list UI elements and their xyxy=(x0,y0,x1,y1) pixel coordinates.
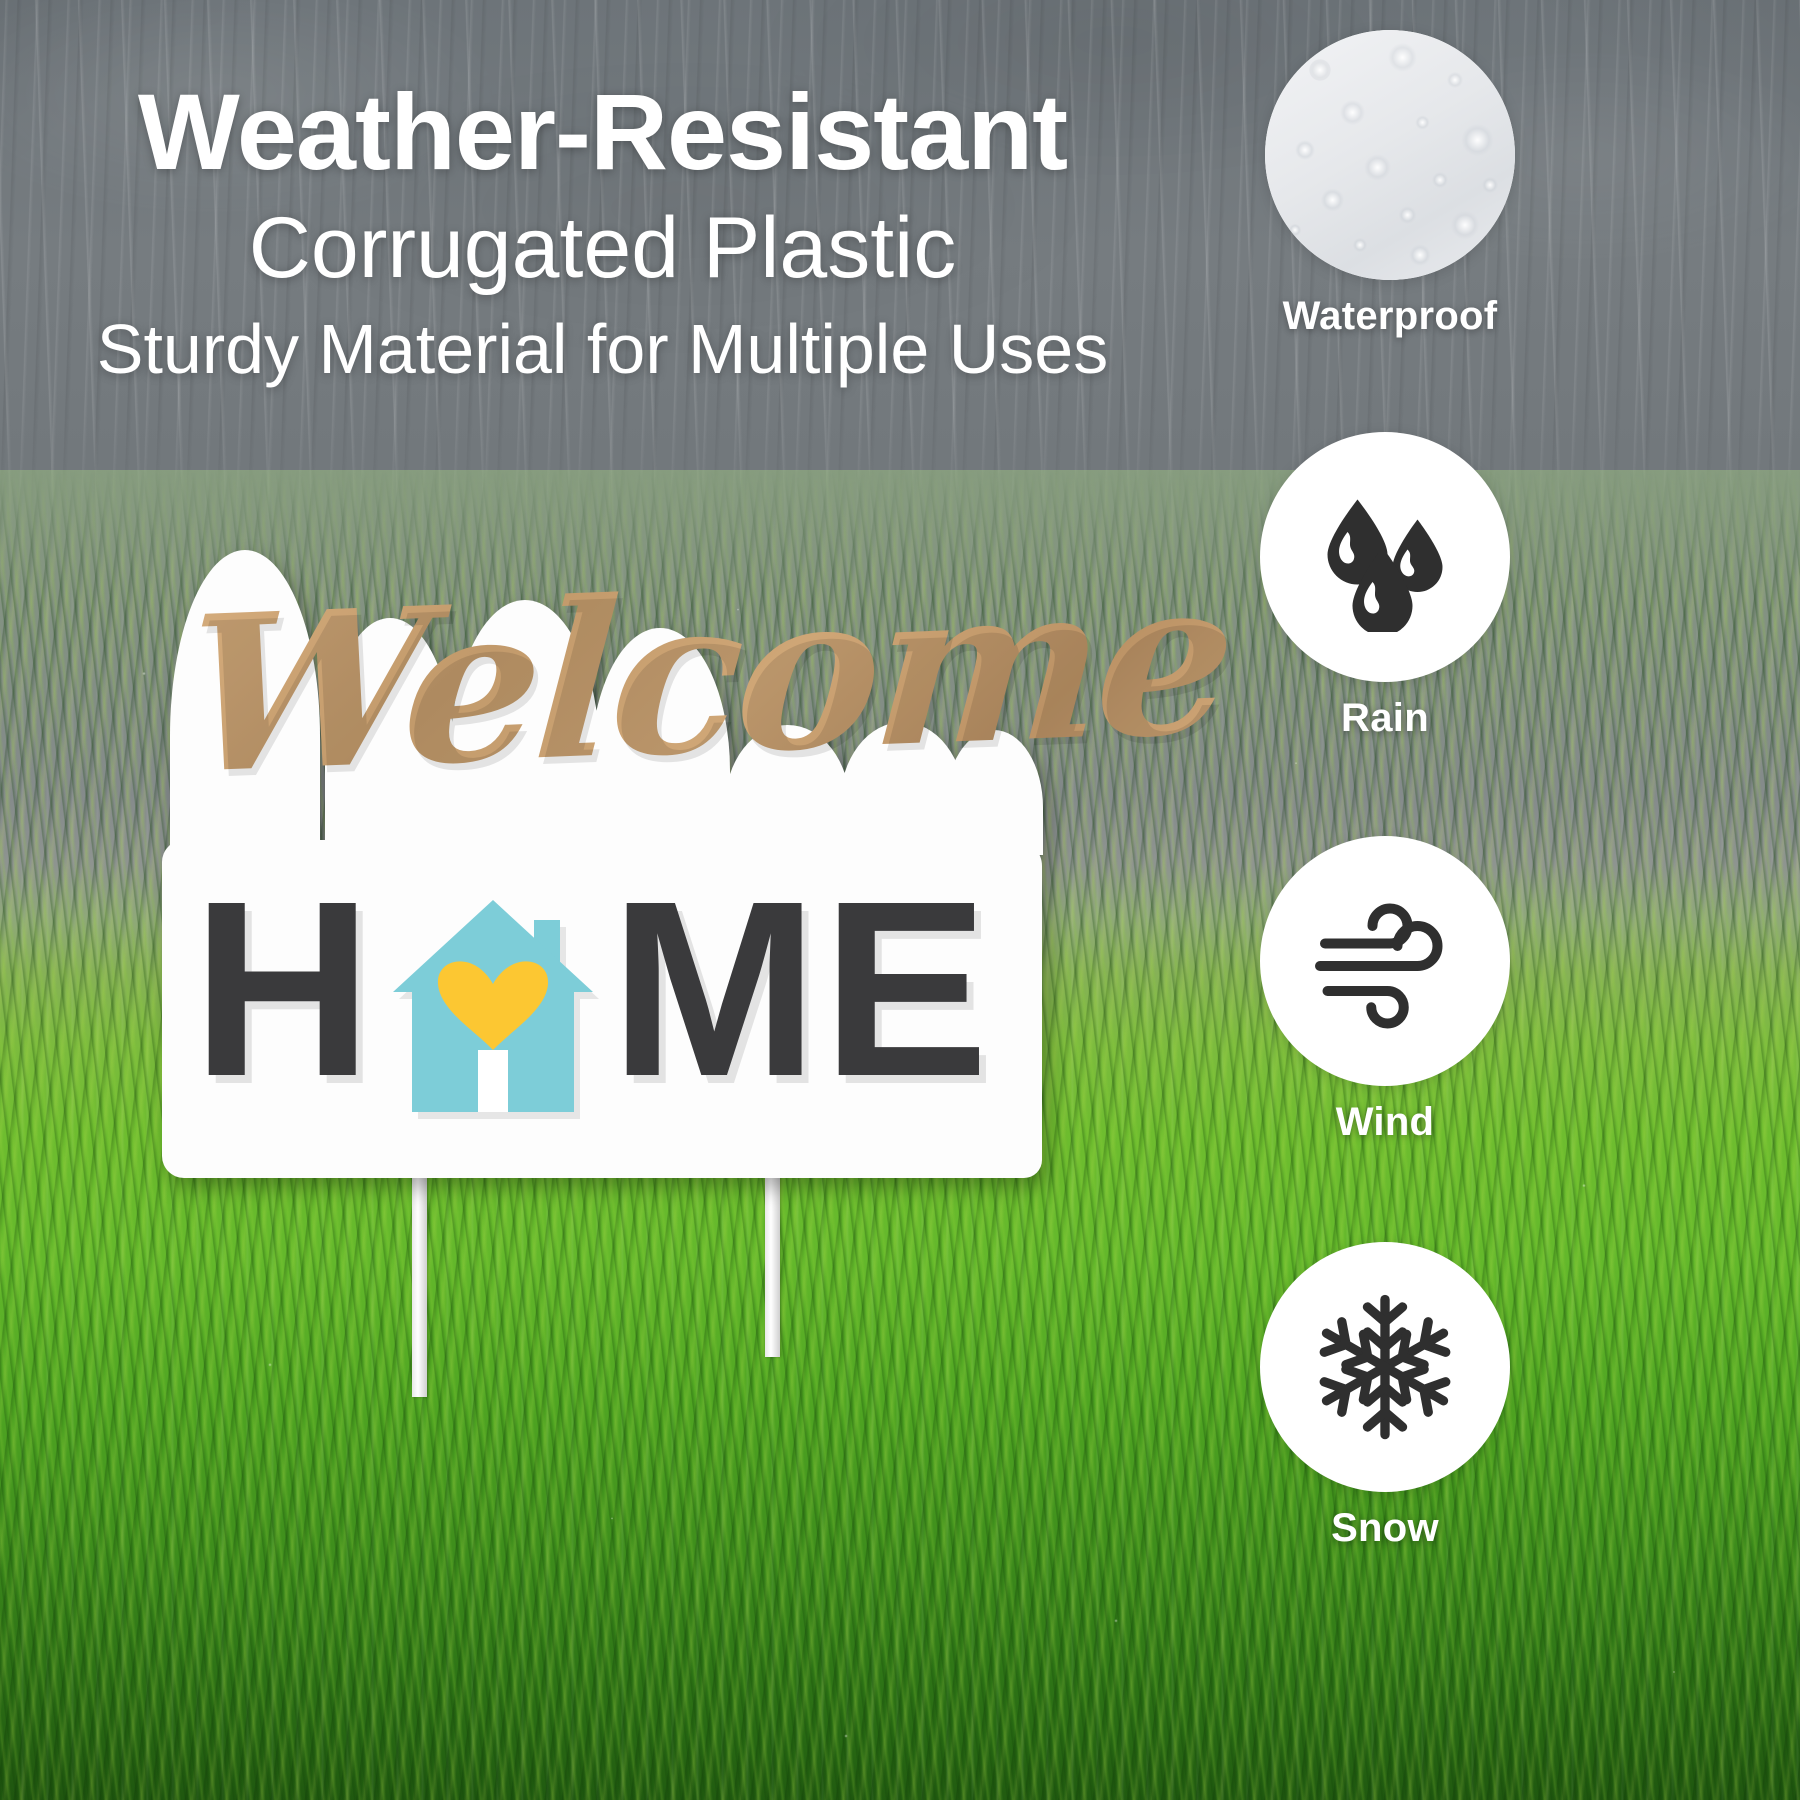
product-feature-image: Weather-Resistant Corrugated Plastic Stu… xyxy=(0,0,1800,1800)
welcome-script-wrap: Welcome xyxy=(180,568,1030,868)
feature-label-wind: Wind xyxy=(1235,1100,1535,1145)
home-letter-m: M xyxy=(610,864,818,1114)
headline-line-1: Weather-Resistant xyxy=(0,78,1205,186)
rain-circle xyxy=(1260,432,1510,682)
snowflake-svg xyxy=(1310,1292,1460,1442)
sign-stake-right xyxy=(765,1152,780,1357)
feature-label-waterproof: Waterproof xyxy=(1240,294,1540,339)
home-letter-h: H xyxy=(192,864,373,1114)
wind-gust-svg xyxy=(1310,886,1460,1036)
wind-gust-icon xyxy=(1260,836,1510,1086)
snowflake-icon xyxy=(1260,1242,1510,1492)
waterproof-circle xyxy=(1265,30,1515,280)
water-droplets-surface-icon xyxy=(1265,30,1515,280)
wind-circle xyxy=(1260,836,1510,1086)
feature-wind: Wind xyxy=(1235,836,1535,1145)
headline-block: Weather-Resistant Corrugated Plastic Stu… xyxy=(0,78,1205,391)
rain-drops-icon xyxy=(1260,432,1510,682)
home-letter-e: E xyxy=(822,864,989,1114)
welcome-script-glyphs: Welcome xyxy=(178,529,1237,822)
home-word-row: H xyxy=(192,870,1022,1130)
feature-label-rain: Rain xyxy=(1235,696,1535,741)
rain-drops-svg xyxy=(1310,482,1460,632)
feature-waterproof: Waterproof xyxy=(1240,30,1540,339)
feature-rain: Rain xyxy=(1235,432,1535,741)
yard-sign: Welcome H xyxy=(150,540,1050,1180)
headline-line-3: Sturdy Material for Multiple Uses xyxy=(0,307,1205,391)
feature-label-snow: Snow xyxy=(1235,1506,1535,1551)
sign-stake-left xyxy=(412,1152,427,1397)
snow-circle xyxy=(1260,1242,1510,1492)
headline-line-2: Corrugated Plastic xyxy=(0,196,1205,301)
house-svg xyxy=(388,888,598,1118)
feature-snow: Snow xyxy=(1235,1242,1535,1551)
welcome-script-text: Welcome xyxy=(179,548,1236,803)
house-with-heart-icon xyxy=(388,888,598,1118)
